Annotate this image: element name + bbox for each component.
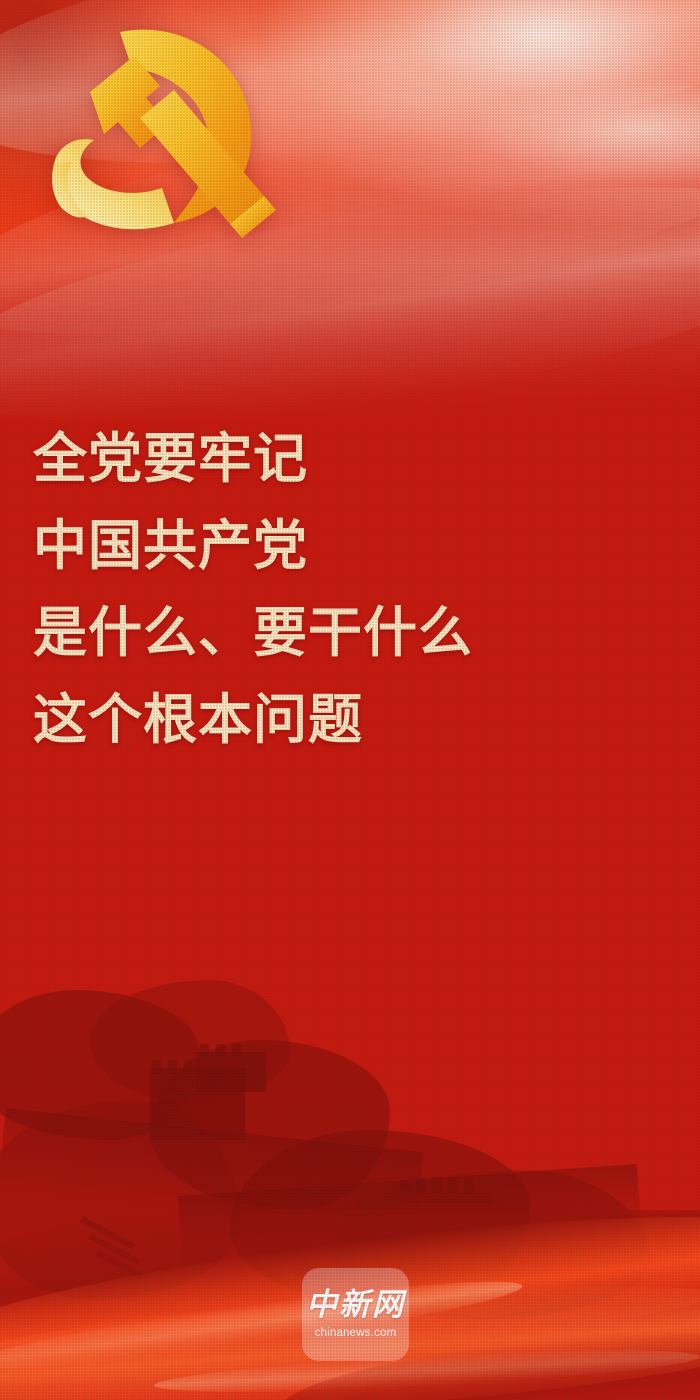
flag-banner — [0, 0, 700, 430]
flag-fade-to-field — [0, 260, 700, 430]
chinanews-logo[interactable]: 中新网 chinanews.com — [302, 1268, 409, 1361]
poster-canvas: 全党要牢记 中国共产党 是什么、要干什么 这个根本问题 中新网 chinanew… — [0, 0, 700, 1400]
headline-line-2: 中国共产党 — [33, 502, 673, 589]
chinanews-logo-mark: 中新网 — [306, 1290, 405, 1321]
headline-line-1: 全党要牢记 — [33, 415, 673, 502]
headline-line-4: 这个根本问题 — [33, 676, 673, 763]
chinanews-logo-url: chinanews.com — [315, 1328, 397, 1340]
headline-block: 全党要牢记 中国共产党 是什么、要干什么 这个根本问题 — [33, 415, 673, 763]
cpc-hammer-and-sickle-icon — [28, 18, 298, 268]
headline-line-3: 是什么、要干什么 — [33, 589, 673, 676]
